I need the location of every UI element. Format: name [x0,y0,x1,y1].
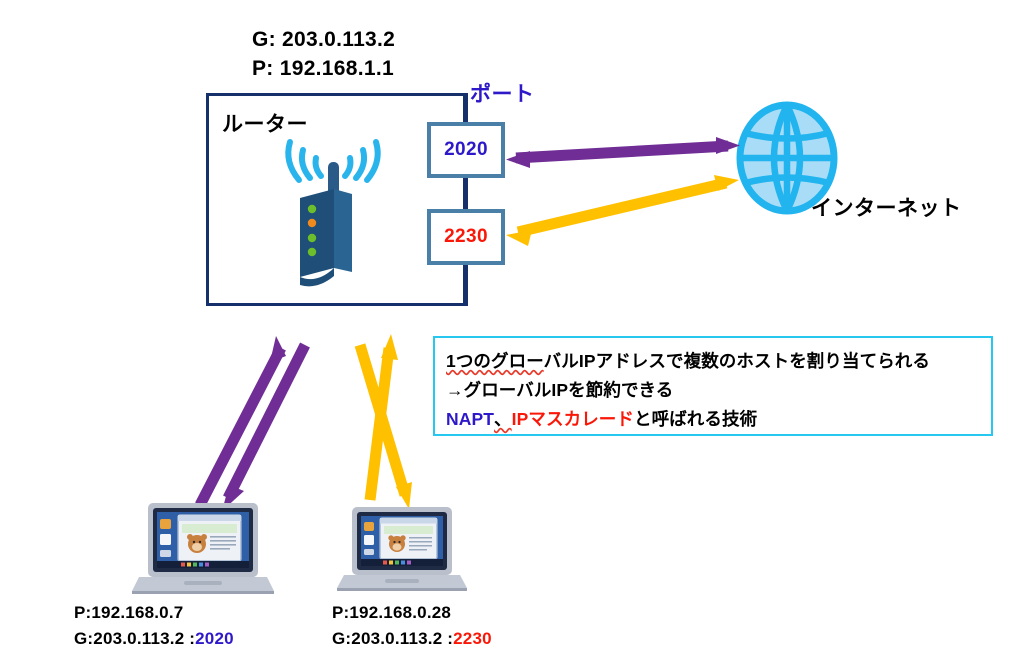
host-2-label: P:192.168.0.28 G:203.0.113.2 :2230 [332,600,492,653]
port-box-2230-value: 2230 [444,226,488,248]
callout-line-1: 1つのグローバルIPアドレスで複数のホストを割り当てられる [446,347,981,376]
host-1-label: P:192.168.0.7 G:203.0.113.2 :2020 [74,600,234,653]
host-1-port: 2020 [195,629,234,648]
callout-line-3: NAPT、IPマスカレードと呼ばれる技術 [446,405,981,434]
callout-line-3-tail: と呼ばれる技術 [634,409,757,429]
internet-label: インターネット [811,192,962,222]
diagram-canvas: G: 203.0.113.2 P: 192.168.1.1 ルーター ポート 2… [0,0,1024,670]
host-1-global-ip: G:203.0.113.2 : [74,629,195,648]
laptop-icon-host-1 [132,503,274,594]
link-arrow-port2230-internet [506,175,739,246]
napt-callout-box: 1つのグローバルIPアドレスで複数のホストを割り当てられる →グローバルIPを節… [433,336,993,436]
host-1-private-ip: P:192.168.0.7 [74,600,234,626]
callout-napt-term: NAPT [446,409,494,429]
link-arrow-host2-router [360,334,412,509]
router-private-ip: P: 192.168.1.1 [252,55,395,84]
host-2-global-ip: G:203.0.113.2 : [332,629,453,648]
callout-masquerade-term: IPマスカレード [512,409,634,429]
host-2-port: 2230 [453,629,492,648]
router-label: ルーター [222,108,308,138]
port-box-2020-value: 2020 [444,139,488,161]
callout-line-2: →グローバルIPを節約できる [446,376,981,405]
router-ip-block: G: 203.0.113.2 P: 192.168.1.1 [252,26,395,84]
link-arrow-host1-router [200,336,305,511]
router-global-ip: G: 203.0.113.2 [252,26,395,55]
host-1-global-line: G:203.0.113.2 :2020 [74,626,234,652]
port-box-2020[interactable]: 2020 [427,122,505,178]
host-2-global-line: G:203.0.113.2 :2230 [332,626,492,652]
port-label: ポート [470,78,535,108]
host-2-private-ip: P:192.168.0.28 [332,600,492,626]
link-arrow-port2020-internet [506,137,740,168]
callout-line-1-part-a: 1つのグロー [446,351,544,371]
port-box-2230[interactable]: 2230 [427,209,505,265]
callout-line-1-part-b: バルIPアドレスで複数のホストを割り当てられる [544,351,930,371]
callout-comma: 、 [494,409,512,429]
laptop-icon-host-2 [337,507,467,591]
